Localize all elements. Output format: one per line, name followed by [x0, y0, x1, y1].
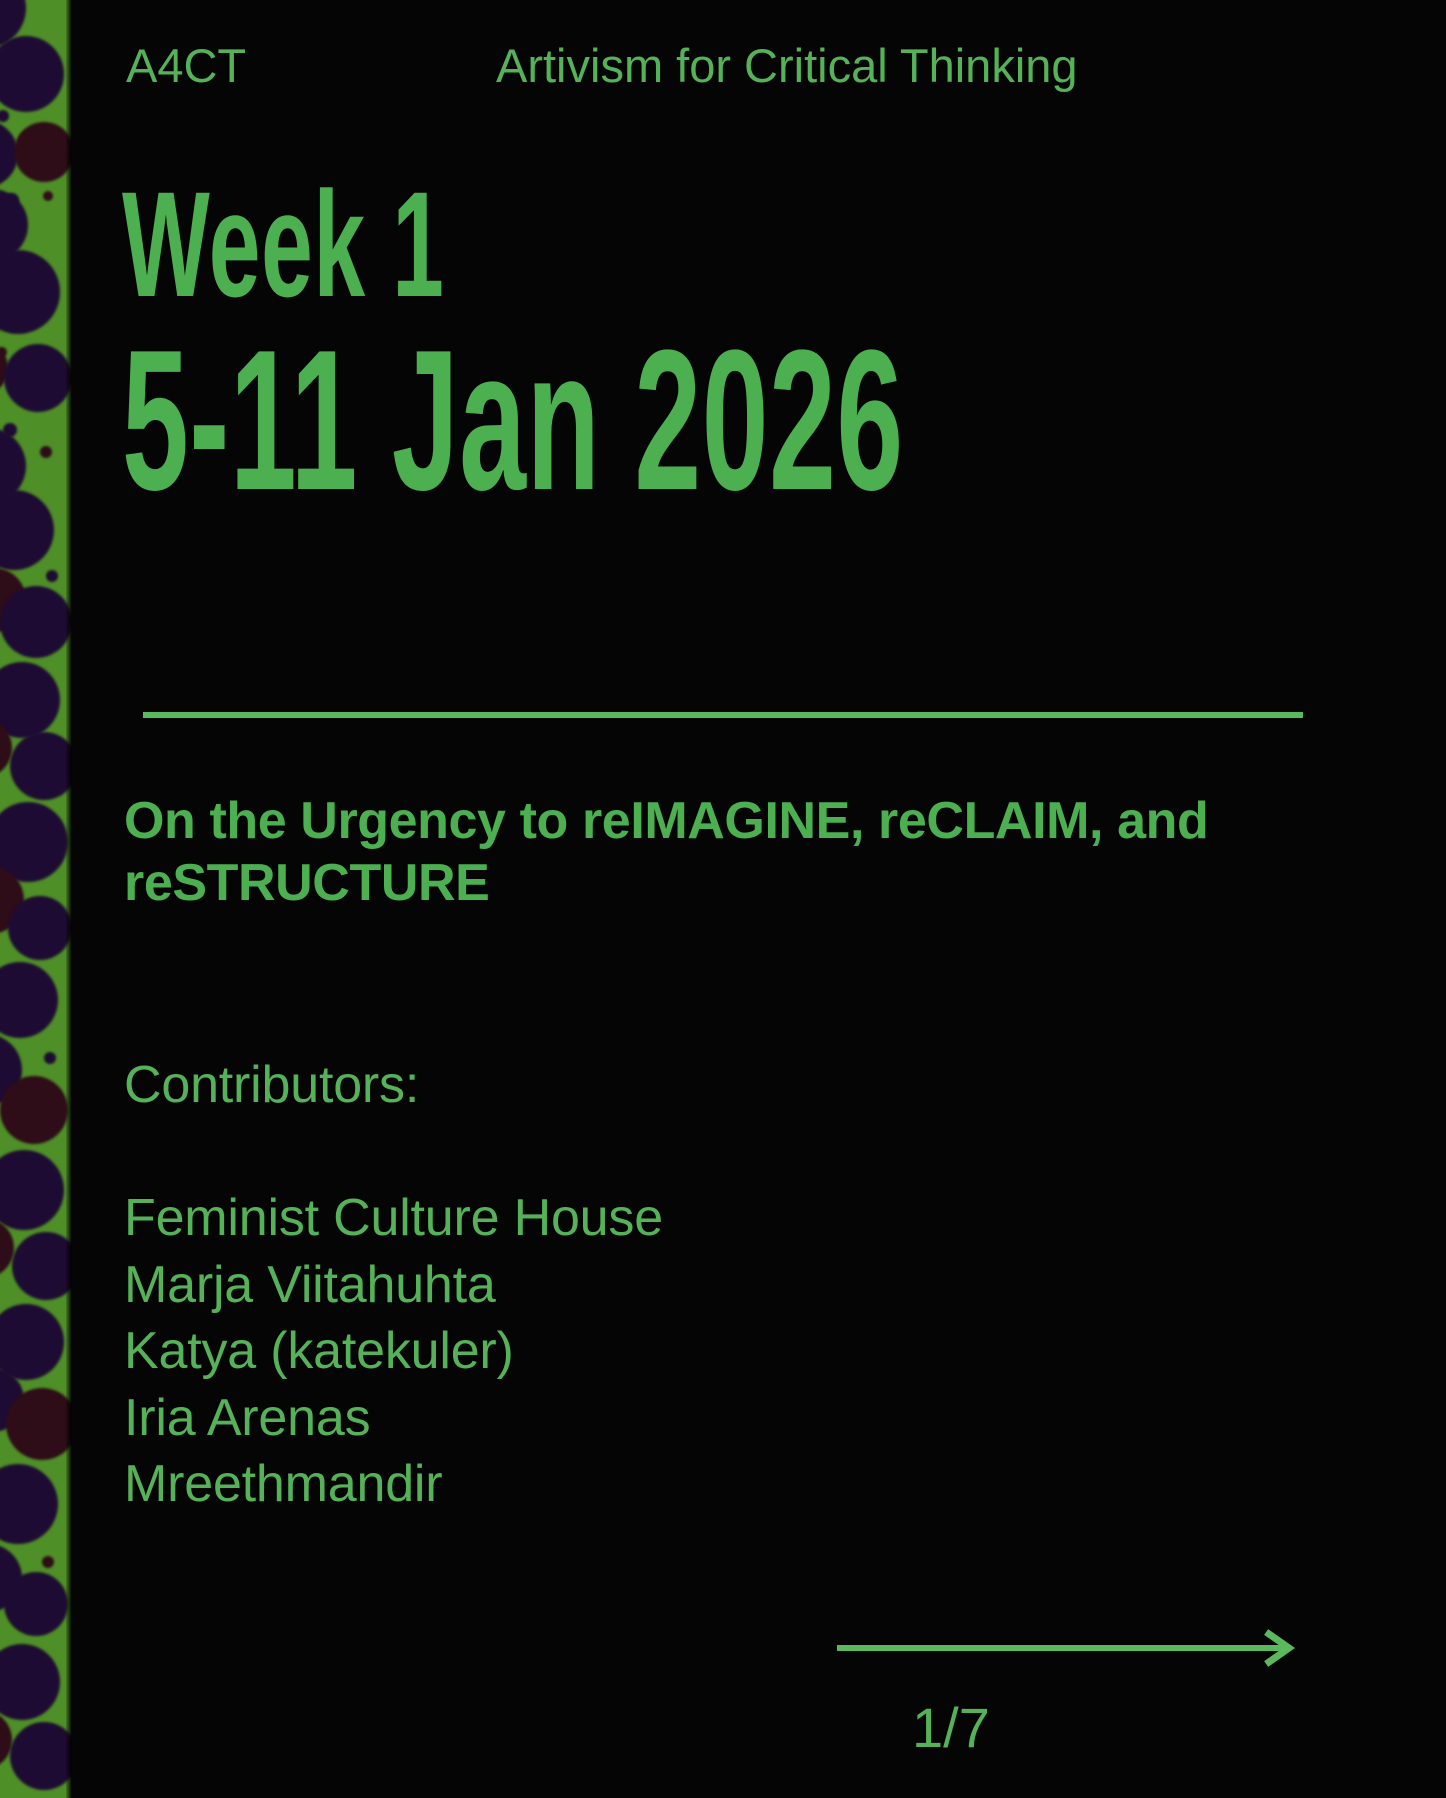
pattern-dot	[4, 344, 72, 412]
list-item: Iria Arenas	[124, 1385, 663, 1452]
pattern-dot	[0, 490, 54, 570]
list-item: Katya (katekuler)	[124, 1318, 663, 1385]
pattern-dot	[0, 662, 60, 738]
pattern-dot	[10, 732, 72, 800]
pattern-dot	[42, 1556, 54, 1568]
pattern-dot	[4, 1572, 68, 1636]
slide-subtitle: On the Urgency to reIMAGINE, reCLAIM, an…	[124, 790, 1304, 915]
pattern-dot	[40, 446, 52, 458]
horizontal-divider	[143, 712, 1303, 718]
title-week-line: Week 1	[122, 175, 903, 313]
pattern-dot	[46, 570, 58, 582]
title-date-line: 5-11 Jan 2026	[122, 329, 878, 513]
title-block: Week 1 5-11 Jan 2026	[122, 175, 1382, 513]
pattern-dot	[10, 1722, 72, 1790]
pattern-dot	[43, 191, 53, 201]
pattern-dot	[44, 1052, 56, 1064]
pattern-dot	[12, 1232, 72, 1300]
arrow-right-icon[interactable]	[837, 1628, 1302, 1668]
list-item: Feminist Culture House	[124, 1185, 663, 1252]
pattern-dot	[0, 802, 68, 882]
tagline-label: Artivism for Critical Thinking	[496, 38, 1078, 93]
brand-label: A4CT	[126, 38, 496, 93]
pattern-dot	[0, 1644, 60, 1720]
list-item: Marja Viitahuhta	[124, 1252, 663, 1319]
slide-content: A4CT Artivism for Critical Thinking Week…	[72, 0, 1446, 1798]
pattern-dot	[0, 250, 60, 334]
pattern-dot	[0, 1304, 64, 1380]
pattern-dot	[0, 962, 58, 1038]
pattern-dot	[0, 1076, 68, 1144]
contributors-list: Feminist Culture House Marja Viitahuhta …	[124, 1185, 663, 1518]
pattern-dot	[0, 36, 64, 112]
pattern-dot	[0, 586, 72, 658]
pattern-dot	[8, 896, 72, 960]
contributors-label: Contributors:	[124, 1055, 419, 1115]
presentation-slide: A4CT Artivism for Critical Thinking Week…	[0, 0, 1446, 1798]
pattern-dot	[0, 110, 9, 122]
page-indicator: 1/7	[912, 1695, 990, 1760]
polka-dot-pattern-icon	[0, 0, 72, 1798]
slide-header: A4CT Artivism for Critical Thinking	[126, 38, 1376, 93]
pattern-dot	[0, 1464, 58, 1544]
pattern-dot	[0, 1150, 64, 1230]
pattern-dot	[6, 1388, 72, 1460]
pattern-dot	[14, 122, 72, 182]
list-item: Mreethmandir	[124, 1451, 663, 1518]
